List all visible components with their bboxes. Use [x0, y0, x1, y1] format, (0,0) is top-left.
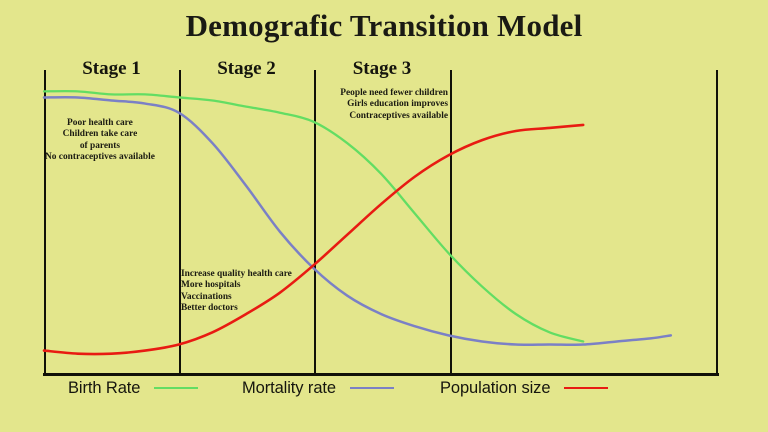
legend-label-birth-rate: Birth Rate: [68, 379, 140, 398]
page-title: Demografic Transition Model: [0, 8, 768, 44]
stage-label-2: Stage 2: [179, 58, 314, 80]
right-border-line: [716, 70, 718, 375]
annotation-line: Children take care: [45, 129, 155, 140]
legend-item-population-size: Population size: [440, 375, 608, 401]
stage-label-3: Stage 3: [314, 58, 450, 80]
legend-label-mortality-rate: Mortality rate: [242, 379, 336, 398]
annotation-line: Better doctors: [181, 303, 292, 314]
annotation-line: Increase quality health care: [181, 269, 292, 280]
legend-item-birth-rate: Birth Rate: [68, 375, 198, 401]
legend-item-mortality-rate: Mortality rate: [242, 375, 394, 401]
annotation-line: Poor health care: [45, 118, 155, 129]
stage-divider-1: [179, 70, 181, 375]
legend: Birth Rate Mortality rate Population siz…: [0, 375, 768, 405]
annotation-line: Girls education improves: [316, 99, 448, 110]
annotation-line: People need fewer children: [316, 88, 448, 99]
legend-swatch-mortality-rate: [350, 387, 394, 389]
annotation-line: More hospitals: [181, 280, 292, 291]
stage-label-1: Stage 1: [44, 58, 179, 80]
annotation-line: Vaccinations: [181, 292, 292, 303]
annotation-line: No contraceptives available: [45, 152, 155, 163]
demographic-transition-chart: Demografic Transition Model Stage 1 Stag…: [0, 0, 768, 432]
annotation-stage-1: Poor health care Children take care of p…: [45, 118, 155, 164]
stage-divider-3: [450, 70, 452, 375]
y-axis-line: [44, 70, 46, 375]
legend-label-population-size: Population size: [440, 379, 550, 398]
annotation-stage-2: Increase quality health care More hospit…: [181, 269, 292, 315]
annotation-line: of parents: [45, 141, 155, 152]
legend-swatch-birth-rate: [154, 387, 198, 389]
annotation-stage-3: People need fewer children Girls educati…: [316, 88, 448, 122]
annotation-line: Contraceptives available: [316, 111, 448, 122]
legend-swatch-population-size: [564, 387, 608, 389]
